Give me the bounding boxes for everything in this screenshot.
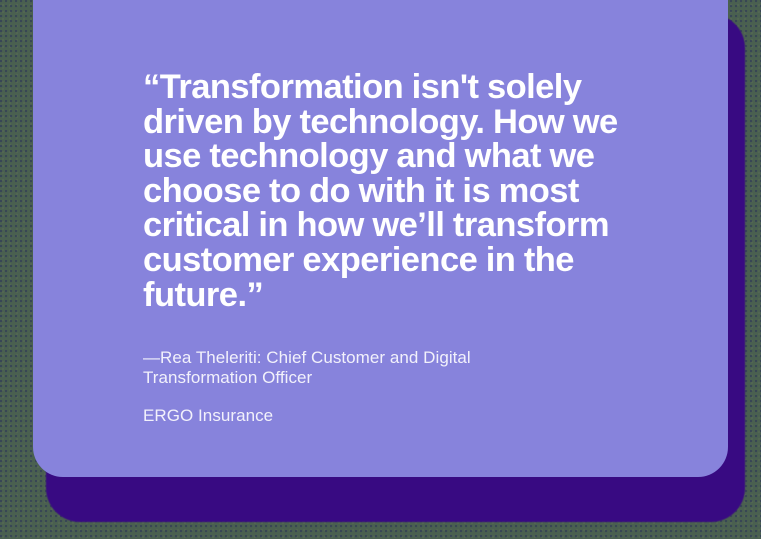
quote-text: “Transformation isn't solely driven by t…: [143, 70, 621, 312]
attribution-block: —Rea Theleriti: Chief Customer and Digit…: [143, 348, 643, 426]
attribution-company: ERGO Insurance: [143, 406, 643, 426]
quote-card: “Transformation isn't solely driven by t…: [33, 0, 728, 477]
attribution-person: —Rea Theleriti: Chief Customer and Digit…: [143, 348, 543, 387]
quote-card-content: “Transformation isn't solely driven by t…: [143, 70, 643, 426]
